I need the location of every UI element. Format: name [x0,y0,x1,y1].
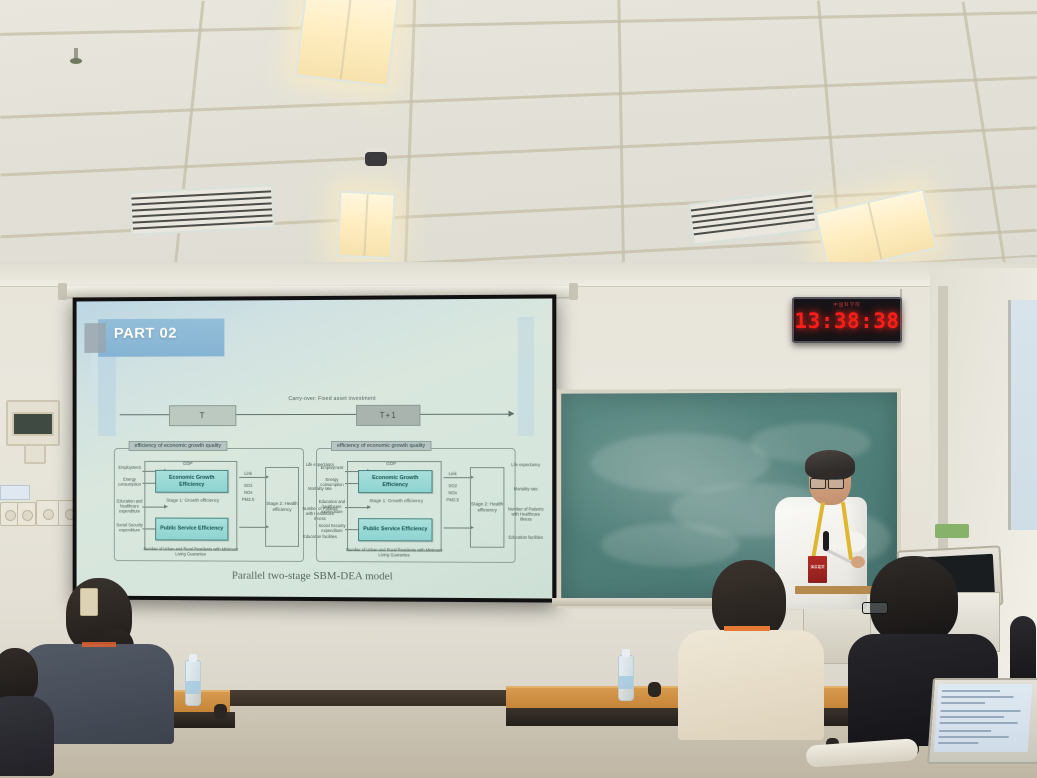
panel-title: efficiency of economic growth quality [129,441,227,451]
pollutant-so2: SO2 [239,483,257,489]
pollutant-nox: NOx [239,490,257,496]
public-service-efficiency-box: Public Service Efficiency [155,518,228,541]
wall-switch-plate [24,444,46,464]
ceiling-light-1 [295,0,400,87]
pollutant-nox: NOx [444,490,462,496]
timeline-period-t1: T+1 [356,405,420,426]
audience-member [678,560,824,730]
bottom-indicator-label: Number of Urban and Rural Residents with… [341,547,448,558]
hair-clip-icon [80,588,98,616]
air-vent-2 [688,188,818,245]
clock-time-display: 13:38:38 [794,309,900,333]
microphone-icon [823,531,829,551]
wall-beam [0,262,1037,287]
ceiling [0,0,1037,300]
banner-square-icon [84,323,106,353]
wall-switch[interactable] [17,502,36,526]
output-label: Mortality rate [507,486,544,491]
seat-knob [648,682,661,697]
input-label: Employment [315,465,349,470]
gdp-label: GDP [183,461,193,466]
laptop[interactable] [930,678,1037,766]
input-label: Education and healthcare expenditure [315,499,349,514]
projector-screen: PART 02 Carry-over: Fixed asset investme… [73,294,557,602]
bottom-indicator-label: Number of Urban and Rural Residents with… [138,546,243,557]
input-label: Employment [113,465,146,470]
stage2-health-efficiency-box: Stage 2: Health efficiency [265,467,299,547]
stage1-container: GDP Economic Growth Efficiency Stage 1: … [347,461,442,552]
input-label: Energy consumption [113,477,146,487]
sprinkler-head-icon [74,48,78,62]
pollutant-so2: SO2 [444,483,462,489]
diagram-panel-period-t: efficiency of economic growth quality Em… [114,448,304,562]
head [870,556,958,644]
window [1008,300,1037,530]
laptop-screen [934,684,1033,752]
presenter-hair [805,450,855,480]
eyeglasses-icon [862,602,888,614]
water-bottle [618,655,634,701]
input-label: Social Security expenditure [315,523,349,533]
panel-title: efficiency of economic growth quality [331,441,431,451]
seat-knob [214,704,227,719]
lanyard [724,626,770,631]
lanyard [82,642,116,647]
link-label: Link [444,471,462,477]
output-label: Number of Patients with Healthcare Illne… [505,506,546,522]
presentation-slide: PART 02 Carry-over: Fixed asset investme… [77,298,553,598]
wall-notice-label [0,485,30,500]
timeline-carryover-label: Carry-over: Fixed asset investment [242,396,422,402]
water-bottle [185,660,201,706]
public-service-efficiency-box: Public Service Efficiency [358,518,432,541]
output-label: Life expectancy [507,462,544,467]
banner-tail [91,351,97,403]
slide-right-band [518,317,534,436]
digital-wall-clock: 中国科学院 13:38:38 [792,297,902,343]
ceiling-light-2 [336,191,395,260]
stage1-label: Stage 1: Growth efficiency [153,498,232,503]
economic-growth-efficiency-box: Economic Growth Efficiency [358,470,432,493]
economic-growth-efficiency-box: Economic Growth Efficiency [155,470,228,493]
lecture-room-photo: PART 02 Carry-over: Fixed asset investme… [0,0,1037,778]
diagram-panel-period-t1: efficiency of economic growth quality Em… [316,448,516,563]
stage1-label: Stage 1: Growth efficiency [356,498,437,503]
input-label: Education and healthcare expenditure [113,499,146,514]
stage2-health-efficiency-box: Stage 2: Health efficiency [470,467,504,548]
wall-outlet[interactable] [36,500,60,526]
input-label: Social Security expenditure [113,522,146,532]
eyeglasses-icon [810,478,844,487]
input-label: Energy consumption [315,477,349,487]
desk-object-green [935,524,969,538]
wall-meter-display [12,412,54,436]
torso [678,630,824,740]
air-vent-1 [129,184,275,235]
stage1-container: GDP Economic Growth Efficiency Stage 1: … [144,461,237,551]
link-label: Link [239,471,257,477]
pollutant-pm25: PM2.5 [444,497,462,503]
timeline-period-t: T [169,405,236,426]
torso [0,696,54,776]
audience-member [0,648,54,758]
security-camera-icon [365,152,387,166]
output-label: Education facilities [507,535,544,540]
gdp-label: GDP [386,461,396,466]
clock-brand-label: 中国科学院 [794,302,900,308]
slide-banner-label: PART 02 [114,325,177,342]
pollutant-pm25: PM2.5 [239,497,257,503]
